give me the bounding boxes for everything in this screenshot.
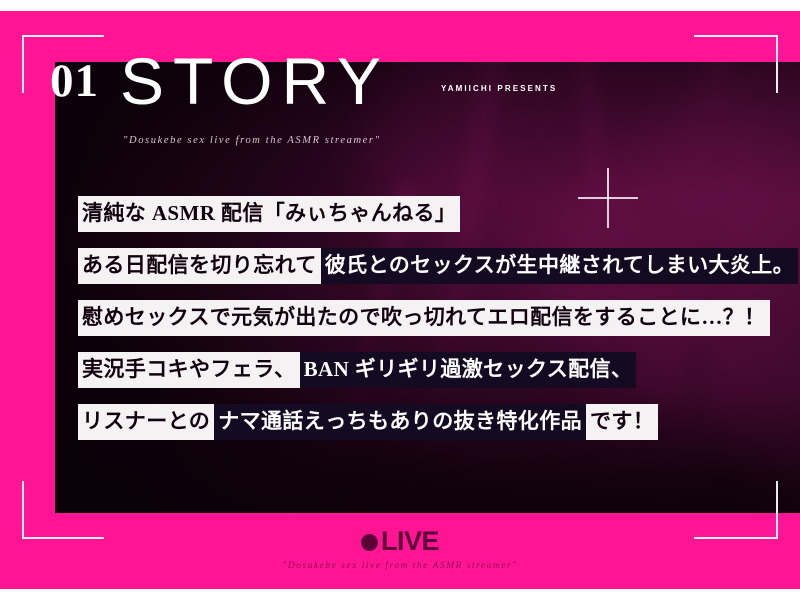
header-subtitle: "Dosukebe sex live from the ASMR streame…	[123, 135, 381, 146]
story-line: 清純な ASMR 配信「みぃちゃんねる」	[78, 203, 778, 224]
live-badge: LIVE	[0, 528, 800, 555]
story-line-segment: リスナーとの	[78, 404, 214, 440]
presents-label: YAMIICHI PRESENTS	[441, 84, 557, 93]
live-label: LIVE	[381, 526, 439, 556]
chapter-number: 01	[50, 58, 99, 105]
top-white-strip	[0, 0, 800, 11]
story-line-segment: 慰めセックスで元気が出たので吹っ切れてエロ配信をすることに…？！	[78, 300, 770, 336]
story-line-segment: ある日配信を切り忘れて	[78, 248, 321, 284]
story-banner: 01 STORY YAMIICHI PRESENTS "Dosukebe sex…	[0, 0, 800, 600]
story-line: 慰めセックスで元気が出たので吹っ切れてエロ配信をすることに…？！	[78, 307, 778, 328]
story-line: 実況手コキやフェラ、BAN ギリギリ過激セックス配信、	[78, 359, 778, 380]
live-dot-icon	[361, 534, 378, 551]
story-line-segment: ナマ通話えっちもありの抜き特化作品	[214, 404, 586, 440]
story-line-segment: です！	[586, 404, 658, 440]
story-line-segment: 彼氏とのセックスが生中継されてしまい大炎上。	[321, 248, 798, 284]
corner-bracket-top-right	[694, 35, 778, 93]
story-copy-block: 清純な ASMR 配信「みぃちゃんねる」ある日配信を切り忘れて彼氏とのセックスが…	[78, 203, 778, 432]
story-line: リスナーとのナマ通話えっちもありの抜き特化作品です！	[78, 411, 778, 432]
story-line-segment: BAN ギリギリ過激セックス配信、	[300, 352, 637, 388]
footer-subtitle: "Dosukebe sex live from the ASMR streame…	[0, 561, 800, 571]
story-line-segment: 実況手コキやフェラ、	[78, 352, 300, 388]
story-line-segment: 清純な ASMR 配信「みぃちゃんねる」	[78, 196, 460, 232]
bottom-white-strip	[0, 589, 800, 600]
story-line: ある日配信を切り忘れて彼氏とのセックスが生中継されてしまい大炎上。	[78, 255, 778, 276]
page-title: STORY	[120, 48, 390, 114]
